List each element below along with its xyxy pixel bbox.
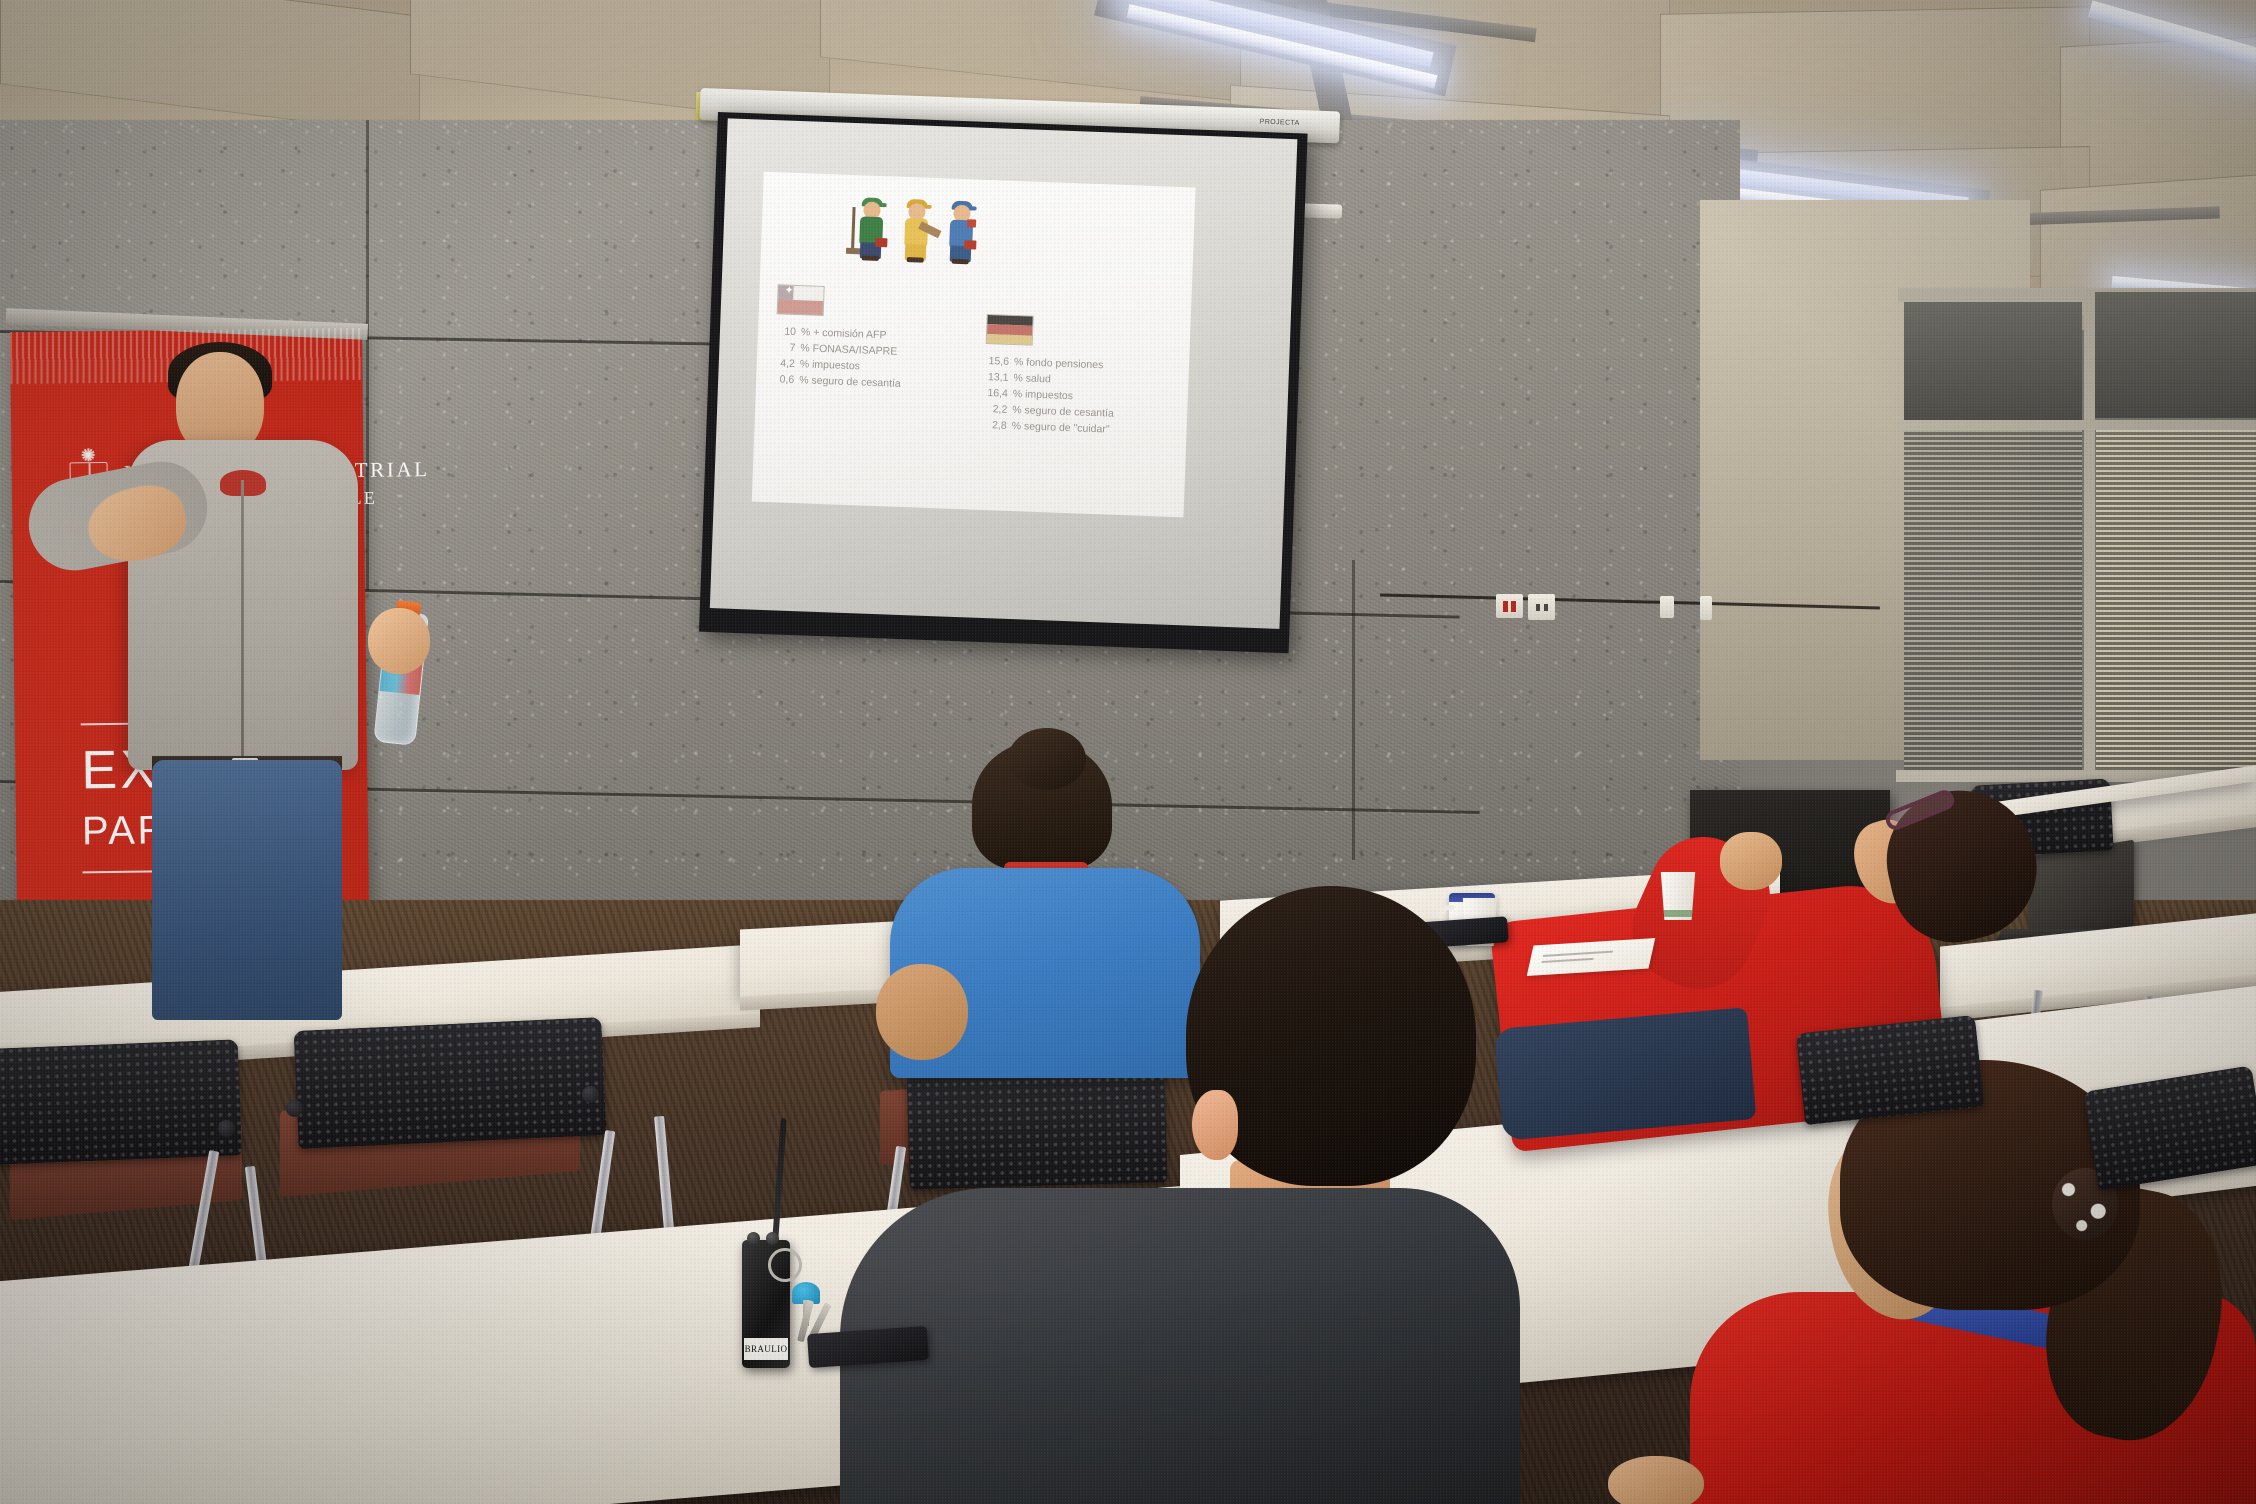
slide-value: 2,2 [979,402,1008,419]
presenter-zipper [241,480,244,760]
carpenter-worker-figure [896,195,936,264]
power-outlet-far[interactable] [1660,596,1674,618]
slide-value: 4,2 [771,356,796,373]
projector-mount [1300,203,1342,218]
power-outlet[interactable] [1528,594,1555,620]
attendee-red-back-legs [1494,1007,1757,1141]
wall-seam-vertical-1 [366,120,369,590]
data-port-red[interactable] [1496,594,1523,618]
chair-knob-left-2 [286,1100,303,1117]
screen-brand-label: PROJECTA [1260,119,1300,127]
chair-knob-left-2b [582,1086,599,1103]
transom-window-left [1904,302,2082,422]
screen-surface: ✦ 10 % + comisión AFP 7 % FONAS [710,118,1298,629]
projected-slide: ✦ 10 % + comisión AFP 7 % FONAS [752,172,1196,518]
glass-pane-left [1904,430,2082,780]
slide-value: 15,6 [981,354,1010,371]
slide-value: 0,6 [770,372,795,389]
slide-label: % salud [1008,371,1051,388]
classroom-scene: PROJECTA [0,0,2256,1504]
chair-back-front-right[interactable] [1796,1015,1985,1125]
attendee-blue-hair-bun [1008,728,1086,790]
chair-knob-left-1 [218,1120,235,1137]
slide-value: 13,1 [980,370,1009,387]
presenter-right-hand [368,608,430,674]
slide-value: 2,8 [978,418,1007,435]
slide-column-chile: 10 % + comisión AFP 7 % FONASA/ISAPRE 4,… [770,324,903,393]
glass-partition-mullion-h [1898,420,2256,430]
projector-screen[interactable]: ✦ 10 % + comisión AFP 7 % FONAS [699,112,1308,653]
chile-flag: ✦ [777,284,825,316]
walkie-talkie-knob-1[interactable] [747,1232,760,1245]
attendee-man-shirt [840,1188,1520,1504]
slide-figure-group [851,189,1004,266]
germany-flag [986,314,1034,346]
transom-window-right [2094,292,2256,418]
slide-label: % seguro de "cuidar" [1006,419,1109,439]
slide-value: 7 [771,340,796,357]
attendee-blue-arm [876,964,968,1060]
wall-seam-vertical-2 [1352,560,1355,860]
glass-pane-right [2096,430,2256,780]
chair-back-center[interactable] [906,1066,1167,1189]
attendee-red-front-hand [1608,1456,1704,1504]
attendee-red-back-hand [1720,832,1782,890]
chair-back-left-2[interactable] [293,1017,606,1149]
slide-value: 16,4 [980,386,1009,403]
janitor-worker-figure [851,193,891,262]
chair-back-left-1[interactable] [0,1039,242,1164]
power-outlet-far-2[interactable] [1700,596,1712,620]
walkie-talkie-knob-2[interactable] [766,1232,779,1245]
plumber-worker-figure [941,196,981,265]
slide-column-germany: 15,6 % fondo pensiones 13,1 % salud 16,4… [978,354,1115,439]
paper-cup-right[interactable] [1658,872,1698,920]
glass-partition-mullion-v [2084,288,2095,778]
slide-value: 10 [772,324,797,341]
attendee-man-ear [1192,1090,1238,1160]
walkie-talkie-name-label: BRAULIO [744,1338,788,1360]
slide-row: 0,6 % seguro de cesantía [770,372,901,393]
presenter-jeans [152,760,342,1020]
slide-label: % seguro de cesantía [794,373,901,393]
